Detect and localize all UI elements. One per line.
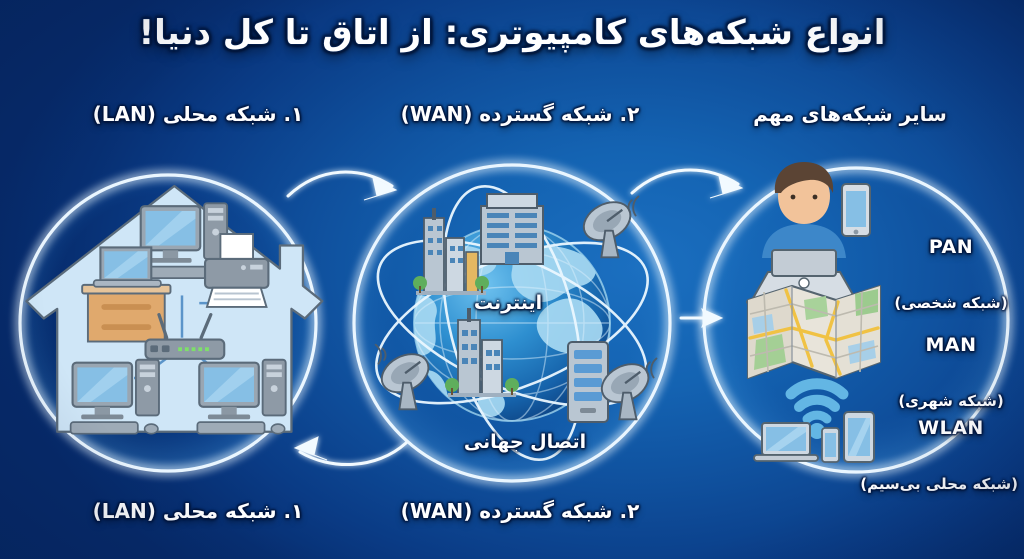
page-title: انواع شبکه‌های کامپیوتری: از اتاق تا کل … bbox=[0, 14, 1024, 52]
infographic-canvas: انواع شبکه‌های کامپیوتری: از اتاق تا کل … bbox=[0, 0, 1024, 559]
footer-label-lan: ۱. شبکه محلی (LAN) bbox=[48, 500, 348, 522]
person-laptop-phone-icon bbox=[746, 162, 870, 304]
globe-caption: اتصال جهانی bbox=[450, 432, 600, 453]
wifi-devices-icon bbox=[754, 384, 874, 462]
label-wlan: WLAN (شبکه محلی بی‌سیم) bbox=[884, 382, 1018, 529]
footer-label-wan: ۲. شبکه گسترده (WAN) bbox=[370, 500, 670, 522]
label-wlan-fa: (شبکه محلی بی‌سیم) bbox=[884, 476, 1018, 493]
column-header-wan: ۲. شبکه گسترده (WAN) bbox=[370, 103, 670, 125]
label-man-abbr: MAN bbox=[886, 335, 1016, 356]
city-map-icon bbox=[748, 286, 880, 378]
column-header-other: سایر شبکه‌های مهم bbox=[700, 103, 1000, 125]
label-pan-abbr: PAN bbox=[886, 237, 1016, 258]
column-header-lan: ۱. شبکه محلی (LAN) bbox=[48, 103, 348, 125]
label-wlan-abbr: WLAN bbox=[884, 418, 1018, 439]
globe-center-label: اینترنت bbox=[448, 293, 568, 314]
